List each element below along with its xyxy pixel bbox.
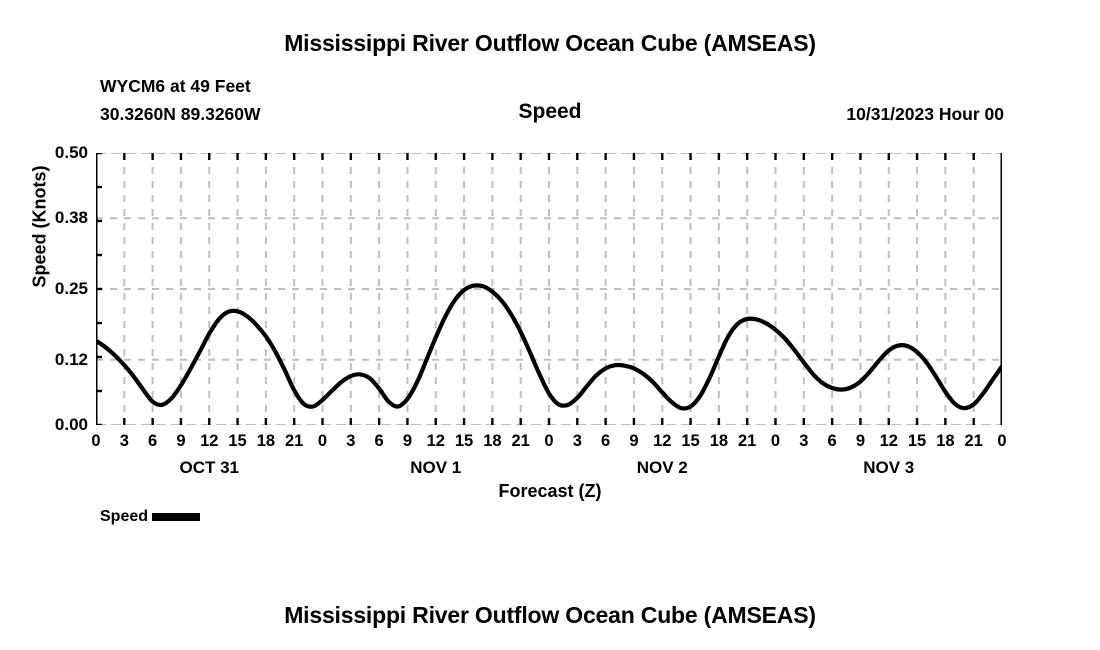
y-tick-label: 0.12 (18, 350, 88, 370)
top-axis-ticks (96, 153, 1002, 160)
y-tick-label: 0.38 (18, 208, 88, 228)
x-day-label: NOV 2 (592, 458, 732, 478)
speed-series-line (96, 285, 1002, 408)
horizontal-gridlines (96, 153, 1002, 425)
x-day-label: NOV 3 (819, 458, 959, 478)
page-title-bottom: Mississippi River Outflow Ocean Cube (AM… (0, 602, 1100, 629)
forecast-datetime-label: 10/31/2023 Hour 00 (846, 104, 1004, 125)
speed-line-chart (96, 153, 1002, 425)
x-day-label: OCT 31 (139, 458, 279, 478)
chart-plot-area (96, 153, 1002, 425)
station-label: WYCM6 at 49 Feet (100, 76, 251, 97)
y-tick-label: 0.50 (18, 143, 88, 163)
bottom-axis-ticks (96, 418, 1002, 425)
x-axis-title: Forecast (Z) (0, 481, 1100, 502)
x-day-label: NOV 1 (366, 458, 506, 478)
legend-swatch-speed (152, 513, 200, 521)
x-tick-label: 0 (982, 432, 1022, 451)
page-title-top: Mississippi River Outflow Ocean Cube (AM… (0, 30, 1100, 57)
chart-legend: Speed (100, 508, 200, 526)
legend-label-speed: Speed (100, 508, 148, 526)
y-tick-label: 0.25 (18, 279, 88, 299)
